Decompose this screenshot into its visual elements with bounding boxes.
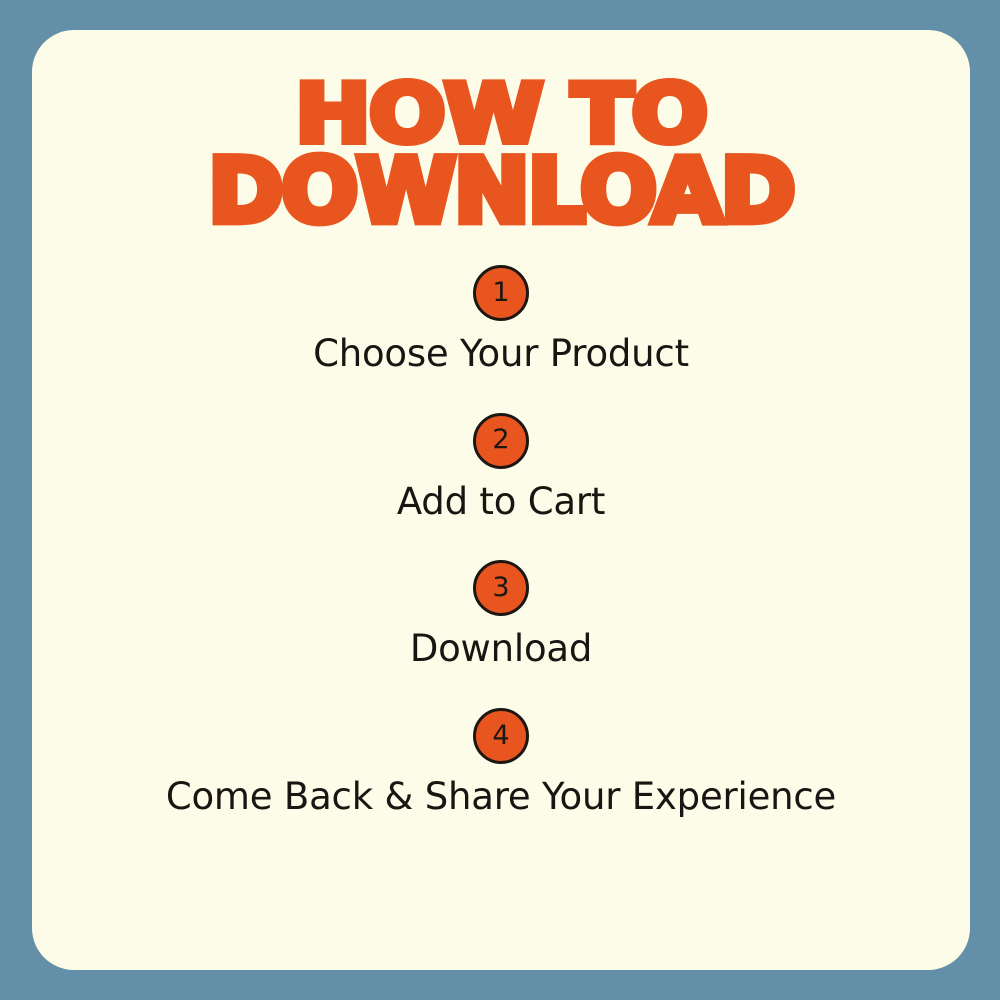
step-item-1: 1 Choose Your Product — [32, 265, 970, 375]
step-item-2: 2 Add to Cart — [32, 413, 970, 523]
title-line-download: DOWNLOAD — [32, 156, 970, 232]
step-number-badge-4: 4 — [473, 708, 529, 764]
step-label-1: Choose Your Product — [32, 334, 970, 375]
step-label-4: Come Back & Share Your Experience — [32, 777, 970, 818]
steps-list: 1 Choose Your Product 2 Add to Cart 3 Do… — [32, 265, 970, 856]
page-title: HOW TO DOWNLOAD — [32, 92, 970, 223]
step-number-badge-1: 1 — [473, 265, 529, 321]
step-label-2: Add to Cart — [32, 482, 970, 523]
poster-card: HOW TO DOWNLOAD 1 Choose Your Product 2 … — [32, 30, 970, 970]
poster-background: HOW TO DOWNLOAD 1 Choose Your Product 2 … — [0, 0, 1000, 1000]
step-item-4: 4 Come Back & Share Your Experience — [32, 708, 970, 818]
step-number-badge-3: 3 — [473, 560, 529, 616]
step-item-3: 3 Download — [32, 560, 970, 670]
step-label-3: Download — [32, 629, 970, 670]
step-number-badge-2: 2 — [473, 413, 529, 469]
